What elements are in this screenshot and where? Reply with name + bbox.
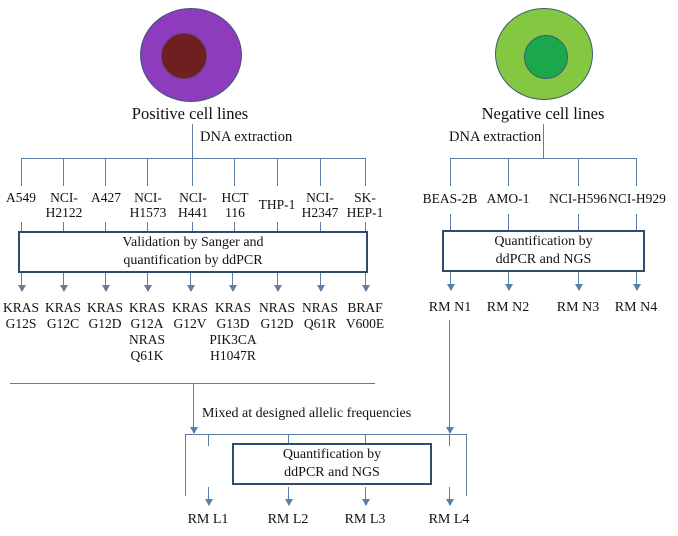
rm-l-output-label: RM L1 xyxy=(176,512,240,527)
negative-cell-lines-title: Negative cell lines xyxy=(453,104,633,124)
negative-quantification-box[interactable]: Quantification by ddPCR and NGS xyxy=(442,230,645,272)
validation-output-arrow xyxy=(21,273,22,291)
validation-output-arrow xyxy=(277,273,278,291)
rm-l-output-arrow xyxy=(288,487,289,505)
negative-box-inlet xyxy=(508,214,509,230)
positive-dna-extraction-label: DNA extraction xyxy=(200,129,292,146)
rm-l-output-label: RM L2 xyxy=(256,512,320,527)
negative-dna-stem xyxy=(543,124,544,158)
rm-l-output-arrow xyxy=(365,487,366,505)
negative-box-line1: Quantification by xyxy=(494,233,592,251)
rm-n-output-label: RM N4 xyxy=(604,300,668,315)
positive-branch-drop xyxy=(21,158,22,186)
mutation-var2: H1047R xyxy=(202,348,264,364)
cell-line-line2: HEP-1 xyxy=(335,205,395,220)
negative-output-arrow xyxy=(450,272,451,290)
mutation-gene2: PIK3CA xyxy=(202,332,264,348)
rm-l-output-label: RM L4 xyxy=(417,512,481,527)
mixing-box-inlet xyxy=(449,434,450,446)
positive-cell-nucleus-icon xyxy=(161,33,207,79)
rm-l-output-arrow xyxy=(449,487,450,505)
mixing-collector-arrow xyxy=(193,383,194,433)
negative-dna-extraction-label: DNA extraction xyxy=(449,129,541,146)
validation-output-arrow xyxy=(190,273,191,291)
negative-box-line2: ddPCR and NGS xyxy=(494,251,592,269)
negative-branch-drop xyxy=(450,158,451,186)
rm-n1-to-mixing-arrow xyxy=(449,320,450,433)
validation-sanger-box[interactable]: Validation by Sanger and quantification … xyxy=(18,231,368,273)
negative-cell-line-label: AMO-1 xyxy=(470,191,546,206)
positive-box-inlet xyxy=(277,222,278,231)
validation-box-line1: Validation by Sanger and xyxy=(122,234,263,252)
mutation-gene2: NRAS xyxy=(117,332,177,348)
negative-cell-line-label: NCI-H929 xyxy=(597,191,677,206)
validation-output-arrow xyxy=(232,273,233,291)
negative-branch-drop xyxy=(578,158,579,186)
positive-box-inlet xyxy=(234,222,235,231)
positive-box-inlet xyxy=(147,222,148,231)
mixing-distribution-bar xyxy=(185,434,466,435)
diagram-canvas: Positive cell lines Negative cell lines … xyxy=(0,0,678,536)
mixing-bypass-line xyxy=(466,434,467,496)
rm-l-output-label: RM L3 xyxy=(333,512,397,527)
cell-line-line2: H2122 xyxy=(34,205,94,220)
mixing-box-line2: ddPCR and NGS xyxy=(283,464,381,482)
negative-output-arrow xyxy=(578,272,579,290)
validation-output-arrow xyxy=(147,273,148,291)
validation-output-arrow xyxy=(63,273,64,291)
negative-tree-bar xyxy=(450,158,636,159)
positive-box-inlet xyxy=(21,222,22,231)
rm-n-output-label: RM N2 xyxy=(476,300,540,315)
negative-box-inlet xyxy=(578,214,579,230)
positive-branch-drop xyxy=(365,158,366,186)
positive-cell-lines-title: Positive cell lines xyxy=(100,104,280,124)
positive-box-inlet xyxy=(365,222,366,231)
positive-box-inlet xyxy=(63,222,64,231)
positive-cell-icon xyxy=(140,8,242,102)
mutation-gene1: BRAF xyxy=(334,300,396,316)
positive-branch-drop xyxy=(63,158,64,186)
positive-box-inlet xyxy=(105,222,106,231)
negative-branch-drop xyxy=(636,158,637,186)
rm-n-output-label: RM N3 xyxy=(546,300,610,315)
negative-cell-icon xyxy=(495,8,593,100)
mutation-var1: V600E xyxy=(334,316,396,332)
positive-branch-drop xyxy=(320,158,321,186)
mutation-label: BRAF V600E xyxy=(334,300,396,332)
negative-branch-drop xyxy=(508,158,509,186)
positive-branch-drop xyxy=(147,158,148,186)
mixing-stage-label: Mixed at designed allelic frequencies xyxy=(202,406,411,422)
validation-output-arrow xyxy=(320,273,321,291)
negative-output-arrow xyxy=(636,272,637,290)
validation-output-arrow xyxy=(105,273,106,291)
positive-box-inlet xyxy=(320,222,321,231)
mixing-box-inlet xyxy=(208,434,209,446)
negative-output-arrow xyxy=(508,272,509,290)
rm-l-output-arrow xyxy=(208,487,209,505)
mixing-box-line1: Quantification by xyxy=(283,446,381,464)
negative-cell-nucleus-icon xyxy=(524,35,568,79)
positive-branch-drop xyxy=(105,158,106,186)
positive-dna-stem xyxy=(192,124,193,158)
mutation-var2: Q61K xyxy=(117,348,177,364)
positive-branch-drop xyxy=(192,158,193,186)
positive-branch-drop xyxy=(234,158,235,186)
positive-cell-line-label: SK- HEP-1 xyxy=(335,190,395,220)
mixing-bypass-line xyxy=(185,434,186,496)
positive-tree-bar xyxy=(21,158,365,159)
validation-box-line2: quantification by ddPCR xyxy=(122,252,263,270)
mixing-quantification-box[interactable]: Quantification by ddPCR and NGS xyxy=(232,443,432,485)
positive-branch-drop xyxy=(277,158,278,186)
validation-output-arrow xyxy=(365,273,366,291)
positive-box-inlet xyxy=(192,222,193,231)
cell-line-line1: SK- xyxy=(335,190,395,205)
rm-n-output-label: RM N1 xyxy=(418,300,482,315)
negative-box-inlet xyxy=(450,214,451,230)
negative-box-inlet xyxy=(636,214,637,230)
